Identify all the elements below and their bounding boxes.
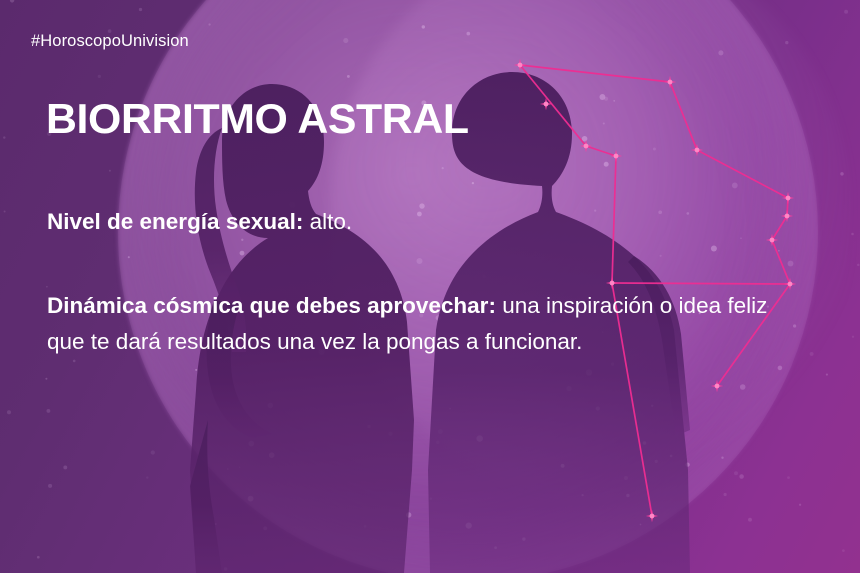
horoscope-card: #HoroscopoUnivision BIORRITMO ASTRAL Niv… [0,0,860,573]
constellation-graphic [0,0,860,573]
constellation-lines [520,65,790,516]
constellation-stars [514,59,796,522]
